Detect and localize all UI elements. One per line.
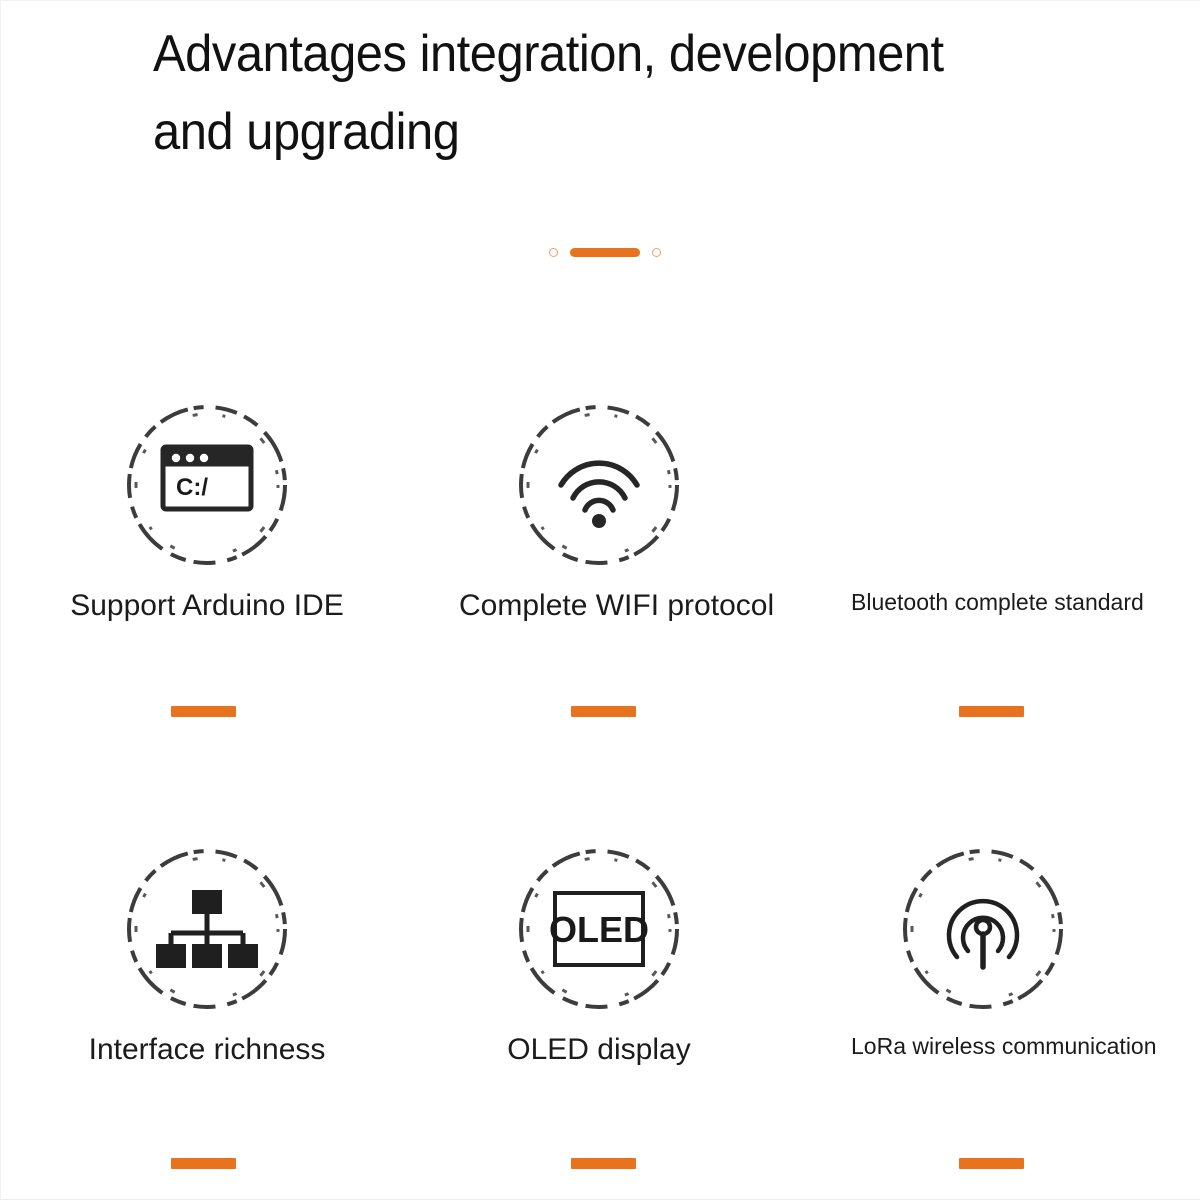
feature-bluetooth-complete-standard: Bluetooth complete standard [851, 397, 1136, 616]
feature-label: Complete WIFI protocol [459, 589, 739, 623]
oled-icon-text: OLED [549, 909, 649, 950]
feature-complete-wifi-protocol: Complete WIFI protocol [459, 397, 739, 623]
broadcast-antenna-icon [895, 841, 1071, 1017]
feature-label: LoRa wireless communication [851, 1033, 1136, 1060]
divider-left-dot-icon [549, 248, 558, 257]
terminal-window-icon: C:/ [119, 397, 295, 573]
divider-right-dot-icon [652, 248, 661, 257]
feature-underline-bar [571, 1158, 636, 1169]
divider-accent-bar [570, 248, 640, 257]
feature-underline-bar [171, 1158, 236, 1169]
feature-label: OLED display [459, 1033, 739, 1067]
svg-text:C:/: C:/ [176, 474, 208, 501]
feature-underline-bar [959, 706, 1024, 717]
feature-underline-bar [571, 706, 636, 717]
oled-screen-icon: OLED [511, 841, 687, 1017]
feature-oled-display: OLED OLED display [459, 841, 739, 1067]
section-divider [549, 241, 661, 263]
page-title: Advantages integration, development and … [153, 15, 1055, 171]
feature-underline-bar [959, 1158, 1024, 1169]
feature-label: Bluetooth complete standard [851, 589, 1136, 616]
feature-support-arduino-ide: C:/ Support Arduino IDE [67, 397, 347, 623]
feature-label: Support Arduino IDE [67, 589, 347, 623]
infographic-canvas: Advantages integration, development and … [0, 0, 1200, 1200]
network-hierarchy-icon [119, 841, 295, 1017]
feature-underline-bar [171, 706, 236, 717]
wifi-icon [511, 397, 687, 573]
feature-lora-wireless-communication: LoRa wireless communication [851, 841, 1136, 1060]
feature-interface-richness: Interface richness [67, 841, 347, 1067]
feature-label: Interface richness [67, 1033, 347, 1067]
